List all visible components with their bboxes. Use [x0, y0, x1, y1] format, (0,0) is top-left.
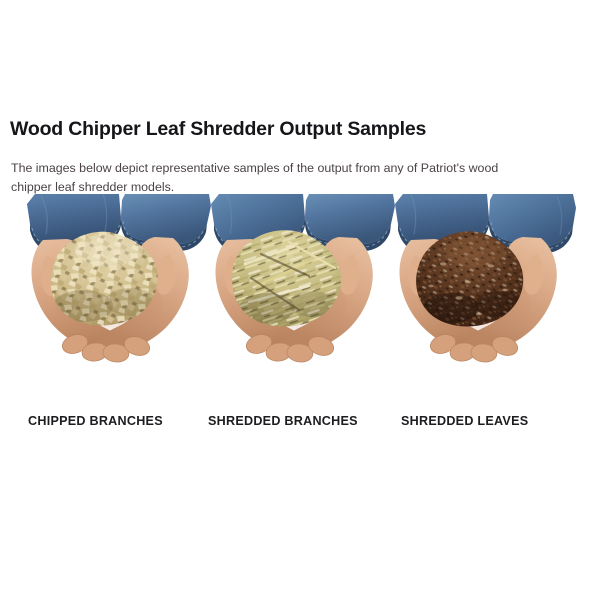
- caption-chipped-branches: CHIPPED BRANCHES: [28, 414, 163, 428]
- intro-line-1: The images below depict representative s…: [11, 161, 498, 175]
- hands-illustration: [13, 194, 577, 404]
- output-samples-photo: [13, 194, 577, 404]
- page-root: Wood Chipper Leaf Shredder Output Sample…: [0, 0, 600, 600]
- caption-shredded-leaves: SHREDDED LEAVES: [401, 414, 528, 428]
- page-title: Wood Chipper Leaf Shredder Output Sample…: [10, 117, 590, 141]
- caption-row: CHIPPED BRANCHES SHREDDED BRANCHES SHRED…: [0, 414, 600, 434]
- caption-shredded-branches: SHREDDED BRANCHES: [208, 414, 358, 428]
- intro-paragraph: The images below depict representative s…: [11, 159, 589, 196]
